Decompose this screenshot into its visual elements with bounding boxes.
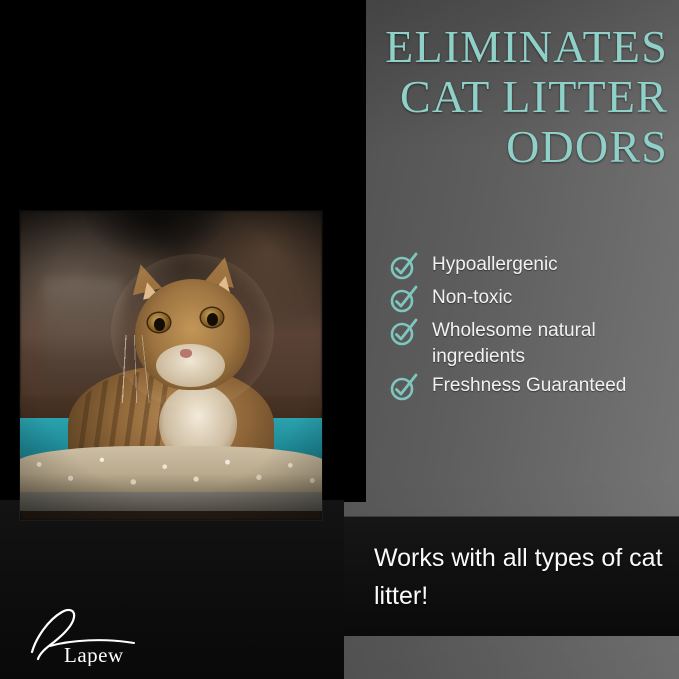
product-feature-image: ELIMINATES CAT LITTER ODORS Hypoallergen… (0, 0, 679, 679)
benefit-label: Non-toxic (432, 285, 512, 311)
benefit-label: Hypoallergenic (432, 252, 558, 278)
headline-line-1: ELIMINATES (300, 22, 668, 72)
check-circle-icon (390, 251, 418, 281)
photo-scene (20, 211, 322, 520)
check-circle-icon (390, 317, 418, 347)
benefit-item: Non-toxic (390, 285, 670, 315)
kitten-pupil-left (154, 318, 165, 331)
headline-line-2: CAT LITTER (300, 72, 668, 122)
callout-text: Works with all types of cat litter! (374, 539, 664, 615)
callout-box: Works with all types of cat litter! (344, 516, 679, 636)
benefits-list: Hypoallergenic Non-toxic Wholesome natur… (390, 252, 670, 406)
headline-line-3: ODORS (300, 122, 668, 172)
benefit-label: Wholesome natural ingredients (432, 318, 664, 370)
headline: ELIMINATES CAT LITTER ODORS (300, 22, 668, 172)
brand-logo: Lapew (26, 604, 166, 666)
brand-name: Lapew (64, 643, 124, 666)
benefit-item: Freshness Guaranteed (390, 373, 670, 403)
benefit-item: Hypoallergenic (390, 252, 670, 282)
check-circle-icon (390, 372, 418, 402)
benefit-label: Freshness Guaranteed (432, 373, 626, 399)
product-photo (20, 211, 322, 520)
check-circle-icon (390, 284, 418, 314)
kitten-nose (180, 349, 192, 358)
benefit-item: Wholesome natural ingredients (390, 318, 670, 370)
cat-litter (20, 446, 322, 492)
